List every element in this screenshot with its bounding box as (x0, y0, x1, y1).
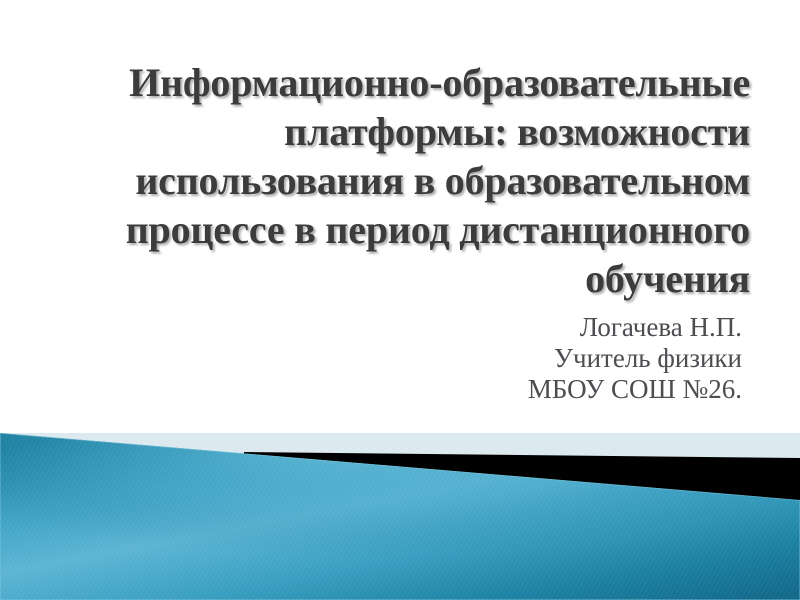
slide-subtitle: Логачева Н.П. Учитель физики МБОУ СОШ №2… (420, 312, 742, 405)
subtitle-author: Логачева Н.П. (420, 312, 742, 343)
title-line-5: обучения (62, 254, 750, 303)
title-line-3: использования в образовательном (62, 156, 750, 205)
slide-text-layer: Информационно-образовательные платформы:… (0, 0, 800, 600)
title-line-2: платформы: возможности (62, 107, 750, 156)
slide-title: Информационно-образовательные платформы:… (62, 58, 750, 303)
title-line-4: процессе в период дистанционного (62, 205, 750, 254)
title-line-1: Информационно-образовательные (62, 58, 750, 107)
subtitle-organization: МБОУ СОШ №26. (420, 374, 742, 405)
subtitle-role: Учитель физики (420, 343, 742, 374)
presentation-slide: Информационно-образовательные платформы:… (0, 0, 800, 600)
